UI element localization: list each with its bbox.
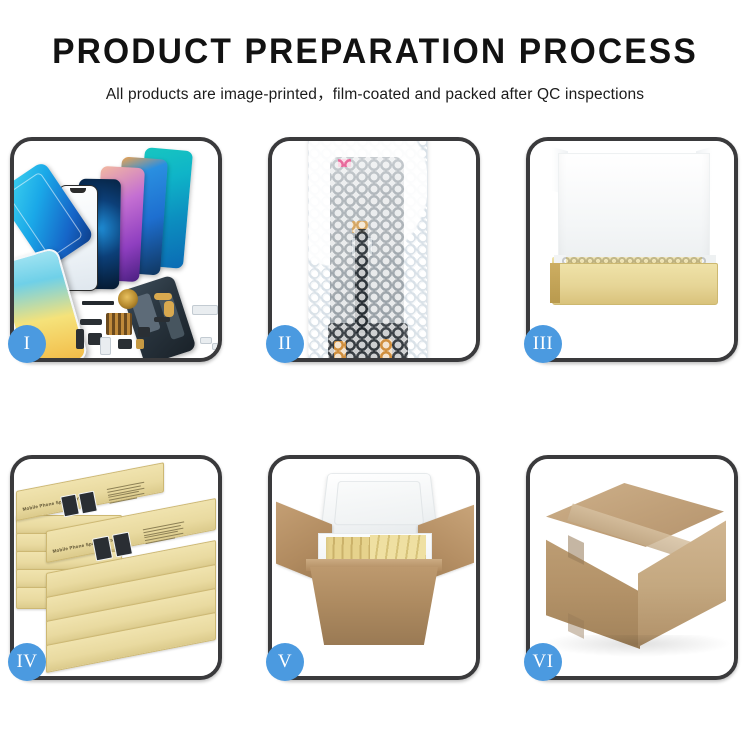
part-gold-contact — [136, 339, 144, 349]
part-flex-cable-a — [154, 293, 172, 300]
step-badge-1: I — [8, 325, 46, 363]
part-button — [138, 327, 150, 337]
step-image-5 — [272, 459, 476, 676]
page-title: PRODUCT PREPARATION PROCESS — [15, 34, 735, 69]
part-ic-board — [106, 313, 132, 335]
step-panel-4[interactable]: Mobile Phone Spare Parts Mobile Phone Sp… — [10, 455, 222, 680]
part-screw-a — [200, 337, 212, 344]
part-earpiece-mesh — [82, 301, 114, 305]
step-badge-4: IV — [8, 643, 46, 681]
step-panel-5[interactable]: V — [268, 455, 480, 680]
step-panel-3[interactable]: III — [526, 137, 738, 362]
step-badge-5: V — [266, 643, 304, 681]
part-flex-cable-b — [164, 301, 174, 317]
process-steps-grid: I II — [10, 137, 740, 680]
kraft-tray-box — [552, 263, 718, 305]
step-image-1 — [14, 141, 218, 358]
tray-corner-left — [550, 263, 560, 303]
step-image-4: Mobile Phone Spare Parts Mobile Phone Sp… — [14, 459, 218, 676]
step-panel-6[interactable]: VI — [526, 455, 738, 680]
step-panel-1[interactable]: I — [10, 137, 222, 362]
page-subtitle: All products are image-printed，film-coat… — [0, 82, 750, 104]
part-chip-small — [118, 339, 132, 349]
gold-tab-left — [334, 341, 346, 358]
step-image-2 — [272, 141, 476, 358]
step-panel-2[interactable]: II — [268, 137, 480, 362]
step-badge-2: II — [266, 325, 304, 363]
carton-drop-shadow — [542, 635, 732, 657]
part-tool-tweezers — [192, 305, 218, 315]
carton-body — [310, 567, 438, 645]
step-image-3 — [530, 141, 734, 358]
step-badge-6: VI — [524, 643, 562, 681]
display-flex-cable — [355, 229, 368, 333]
part-camera-module — [118, 289, 138, 309]
gold-tab-right — [380, 339, 392, 358]
part-vibrator — [76, 329, 84, 349]
product-preparation-page: PRODUCT PREPARATION PROCESS All products… — [0, 0, 750, 750]
part-antenna — [154, 317, 170, 322]
part-screw-b — [212, 343, 218, 350]
step-badge-3: III — [524, 325, 562, 363]
phones-and-parts-illustration — [14, 141, 218, 358]
page-header: PRODUCT PREPARATION PROCESS All products… — [0, 0, 750, 104]
pink-qc-label — [338, 159, 351, 167]
part-sim-tray — [100, 337, 111, 355]
step-image-6 — [530, 459, 734, 676]
stacked-retail-boxes: Mobile Phone Spare Parts Mobile Phone Sp… — [16, 475, 218, 673]
part-connector-strip — [80, 319, 102, 325]
